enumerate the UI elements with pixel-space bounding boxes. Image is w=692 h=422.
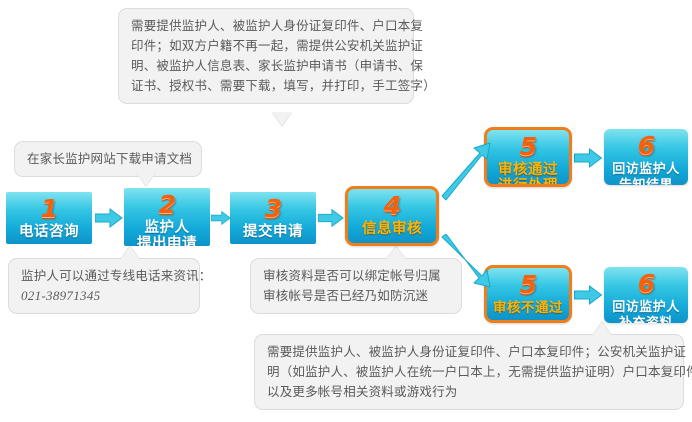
flow-step-4[interactable]: 4 信息审核	[345, 186, 439, 246]
callout-tail-up-icon	[592, 322, 612, 336]
step-number: 5	[520, 272, 536, 297]
callout-line: 以及更多帐号相关资料或游戏行为	[267, 382, 671, 402]
step-number: 1	[41, 196, 57, 221]
step-label: 回访监护人	[612, 299, 680, 315]
step-label: 电话咨询	[19, 224, 79, 240]
callout-tail-down-icon	[136, 172, 156, 186]
step-label: 回访监护人	[612, 161, 680, 177]
arrow-step5fail-to-step6fail-icon	[574, 285, 603, 305]
step-label: 提出申请	[137, 236, 197, 246]
arrow-step1-to-step2-icon	[95, 208, 123, 228]
flow-step-2[interactable]: 2 监护人 提出申请	[124, 188, 210, 246]
step-label: 审核不通过	[493, 300, 563, 316]
step-number: 6	[638, 271, 654, 296]
hotline-phone-number: 021-38971345	[21, 286, 187, 306]
step-number: 3	[265, 196, 281, 221]
step-label: 监护人	[145, 220, 190, 236]
callout-line: 证书、授权书、需要下载，填写，并打印，手工签字）	[131, 76, 401, 96]
arrow-step3-to-step4-icon	[318, 208, 344, 228]
top-requirements-callout: 需要提供监护人、被监护人身份证复印件、户口本复 印件；如双方户籍不再一起，需提供…	[118, 8, 414, 104]
callout-line: 审核帐号是否已经乃如防沉迷	[263, 286, 449, 306]
step-label: 审核通过	[498, 162, 558, 178]
callout-line: 明（如监护人、被监护人在统一户口本上，无需提供监护证明）户口本复印件，	[267, 362, 671, 382]
callout-line: 审核资料是否可以绑定帐号归属	[263, 266, 449, 286]
step-number: 5	[520, 134, 536, 159]
step-label: 提交申请	[243, 224, 303, 240]
arrow-step4-to-pass-branch-icon	[440, 140, 492, 202]
flow-step-5-pass[interactable]: 5 审核通过 进行处理	[484, 127, 572, 187]
step-label: 告知结果	[619, 177, 673, 185]
arrow-step4-to-fail-branch-icon	[440, 234, 492, 292]
callout-line: 明、被监护人信息表、家长监护申请书（申请书、保	[131, 56, 401, 76]
flow-step-1[interactable]: 1 电话咨询	[6, 192, 92, 244]
callout-tail-up-icon	[120, 246, 140, 260]
bottom-requirements-callout: 需要提供监护人、被监护人身份证复印件、户口本复印件；公安机关监护证 明（如监护人…	[254, 334, 684, 410]
flow-step-3[interactable]: 3 提交申请	[230, 192, 316, 244]
callout-line: 监护人可以通过专线电话来资讯：	[21, 266, 187, 286]
step-number: 4	[384, 193, 400, 218]
callout-line: 需要提供监护人、被监护人身份证复印件、户口本复印件；公安机关监护证	[267, 342, 671, 362]
step-label: 信息审核	[362, 221, 422, 237]
flowchart-canvas: 需要提供监护人、被监护人身份证复印件、户口本复 印件；如双方户籍不再一起，需提供…	[0, 0, 692, 422]
step-number: 2	[159, 192, 175, 217]
arrow-step5pass-to-step6pass-icon	[574, 148, 603, 168]
flow-step-6-pass[interactable]: 6 回访监护人 告知结果	[604, 129, 688, 185]
arrow-step2-to-step3-icon	[211, 208, 231, 228]
callout-line: 需要提供监护人、被监护人身份证复印件、户口本复	[131, 16, 401, 36]
step-label: 补充资料	[619, 315, 673, 323]
step-label: 进行处理	[498, 178, 558, 187]
step-number: 6	[638, 133, 654, 158]
callout-line: 在家长监护网站下载申请文档	[27, 149, 189, 169]
callout-tail-down-icon	[272, 112, 292, 126]
callout-line: 印件；如双方户籍不再一起，需提供公安机关监护证	[131, 36, 401, 56]
flow-step-6-fail[interactable]: 6 回访监护人 补充资料	[604, 267, 688, 323]
download-docs-callout: 在家长监护网站下载申请文档	[14, 141, 202, 177]
hotline-callout: 监护人可以通过专线电话来资讯： 021-38971345	[8, 258, 200, 314]
review-check-callout: 审核资料是否可以绑定帐号归属 审核帐号是否已经乃如防沉迷	[250, 258, 462, 314]
flow-step-5-fail[interactable]: 5 审核不通过	[484, 265, 572, 323]
callout-tail-up-icon	[386, 246, 406, 260]
